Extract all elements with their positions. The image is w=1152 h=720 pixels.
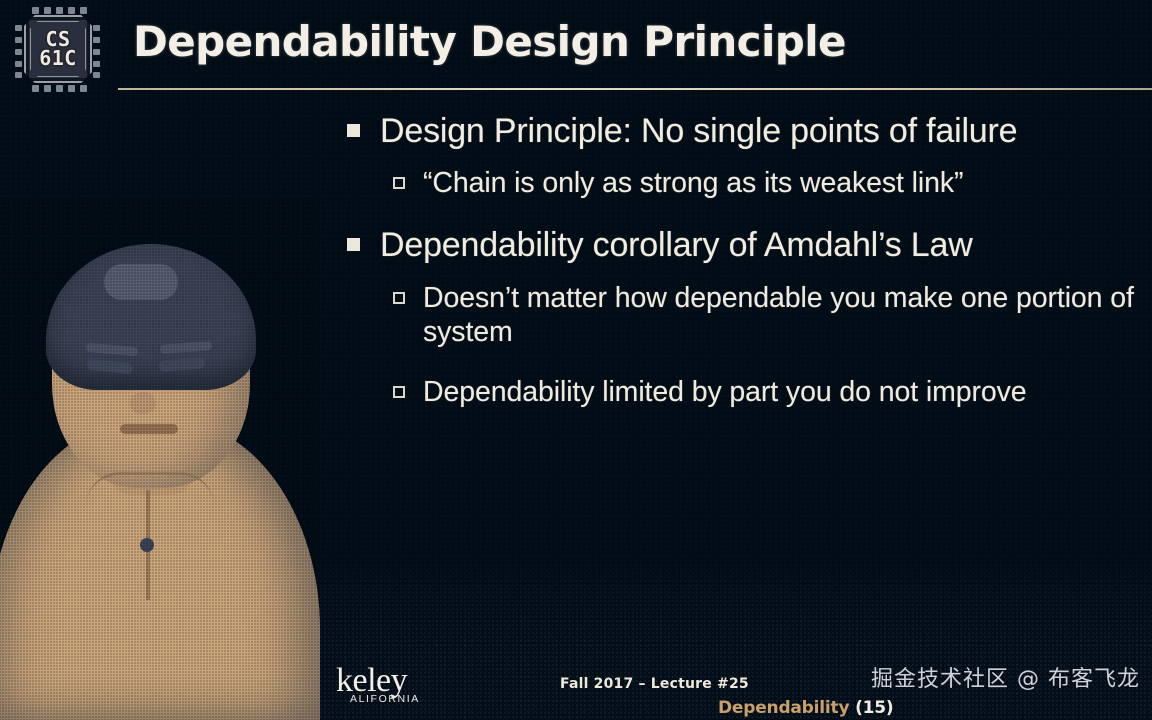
presenter-neck	[108, 415, 194, 495]
presenter-dither-overlay	[0, 200, 320, 720]
presenter-eye-left	[87, 359, 134, 375]
uc-berkeley-logo-subtitle: ALIFORNIA	[350, 693, 420, 705]
presenter-shirt-placket	[146, 490, 150, 600]
presenter-nose	[130, 392, 156, 414]
lecture-label: Fall 2017 – Lecture #25	[560, 676, 749, 692]
watermark-text: 掘金技术社区 @ 布客飞龙	[871, 661, 1140, 693]
bullet-item-level1: Dependability corollary of Amdahl’s Law	[347, 226, 1147, 264]
hollow-square-bullet-icon	[393, 177, 405, 189]
bullet-item-level2: Dependability limited by part you do not…	[393, 376, 1152, 410]
background-dither-texture	[0, 0, 1152, 720]
title-divider-highlight	[118, 88, 1152, 90]
slide-title: Dependability Design Principle	[133, 17, 846, 66]
bullet-item-level1: Design Principle: No single points of fa…	[347, 112, 1147, 150]
chip-pins-left	[15, 25, 23, 77]
bullet-text: Dependability corollary of Amdahl’s Law	[380, 226, 973, 264]
bullet-text: “Chain is only as strong as its weakest …	[423, 167, 963, 201]
slide-header: CS 61C Dependability Design Principle	[0, 0, 1152, 100]
slide-footer: keley ALIFORNIA Fall 2017 – Lecture #25 …	[0, 658, 1152, 720]
presenter-mouth	[120, 424, 178, 434]
presenter-shirt-collar	[86, 472, 214, 506]
presenter-eye-right	[159, 357, 206, 372]
chip-pins-top	[32, 7, 84, 15]
footer-topic-number: (15)	[855, 698, 893, 718]
bullet-text: Design Principle: No single points of fa…	[380, 112, 1017, 150]
presenter-head	[52, 250, 250, 488]
hollow-square-bullet-icon	[393, 292, 405, 304]
slide-canvas: CS 61C Dependability Design Principle De…	[0, 0, 1152, 720]
filled-square-bullet-icon	[347, 238, 360, 251]
presenter-eyebrow-right	[160, 341, 213, 354]
presenter-eyebrow-left	[86, 343, 139, 356]
filled-square-bullet-icon	[347, 124, 360, 137]
presenter-shirt-button	[140, 538, 154, 552]
presenter-hair	[46, 244, 256, 390]
bullet-item-level2: “Chain is only as strong as its weakest …	[393, 167, 1152, 201]
chip-pins-right	[93, 25, 101, 77]
chip-pins-bottom	[32, 85, 84, 93]
hollow-square-bullet-icon	[393, 386, 405, 398]
bullet-text: Doesn’t matter how dependable you make o…	[423, 282, 1138, 349]
footer-topic-name: Dependability	[718, 698, 849, 718]
bullet-text: Dependability limited by part you do not…	[423, 376, 1027, 410]
chip-label: CS 61C	[30, 21, 86, 77]
bullet-item-level2: Doesn’t matter how dependable you make o…	[393, 282, 1138, 349]
cs61c-chip-logo: CS 61C	[14, 7, 102, 91]
presenter-video-overlay	[0, 200, 320, 720]
footer-topic: Dependability (15)	[718, 698, 893, 718]
chip-label-line2: 61C	[39, 49, 77, 68]
uc-berkeley-logo: keley ALIFORNIA	[336, 662, 466, 712]
